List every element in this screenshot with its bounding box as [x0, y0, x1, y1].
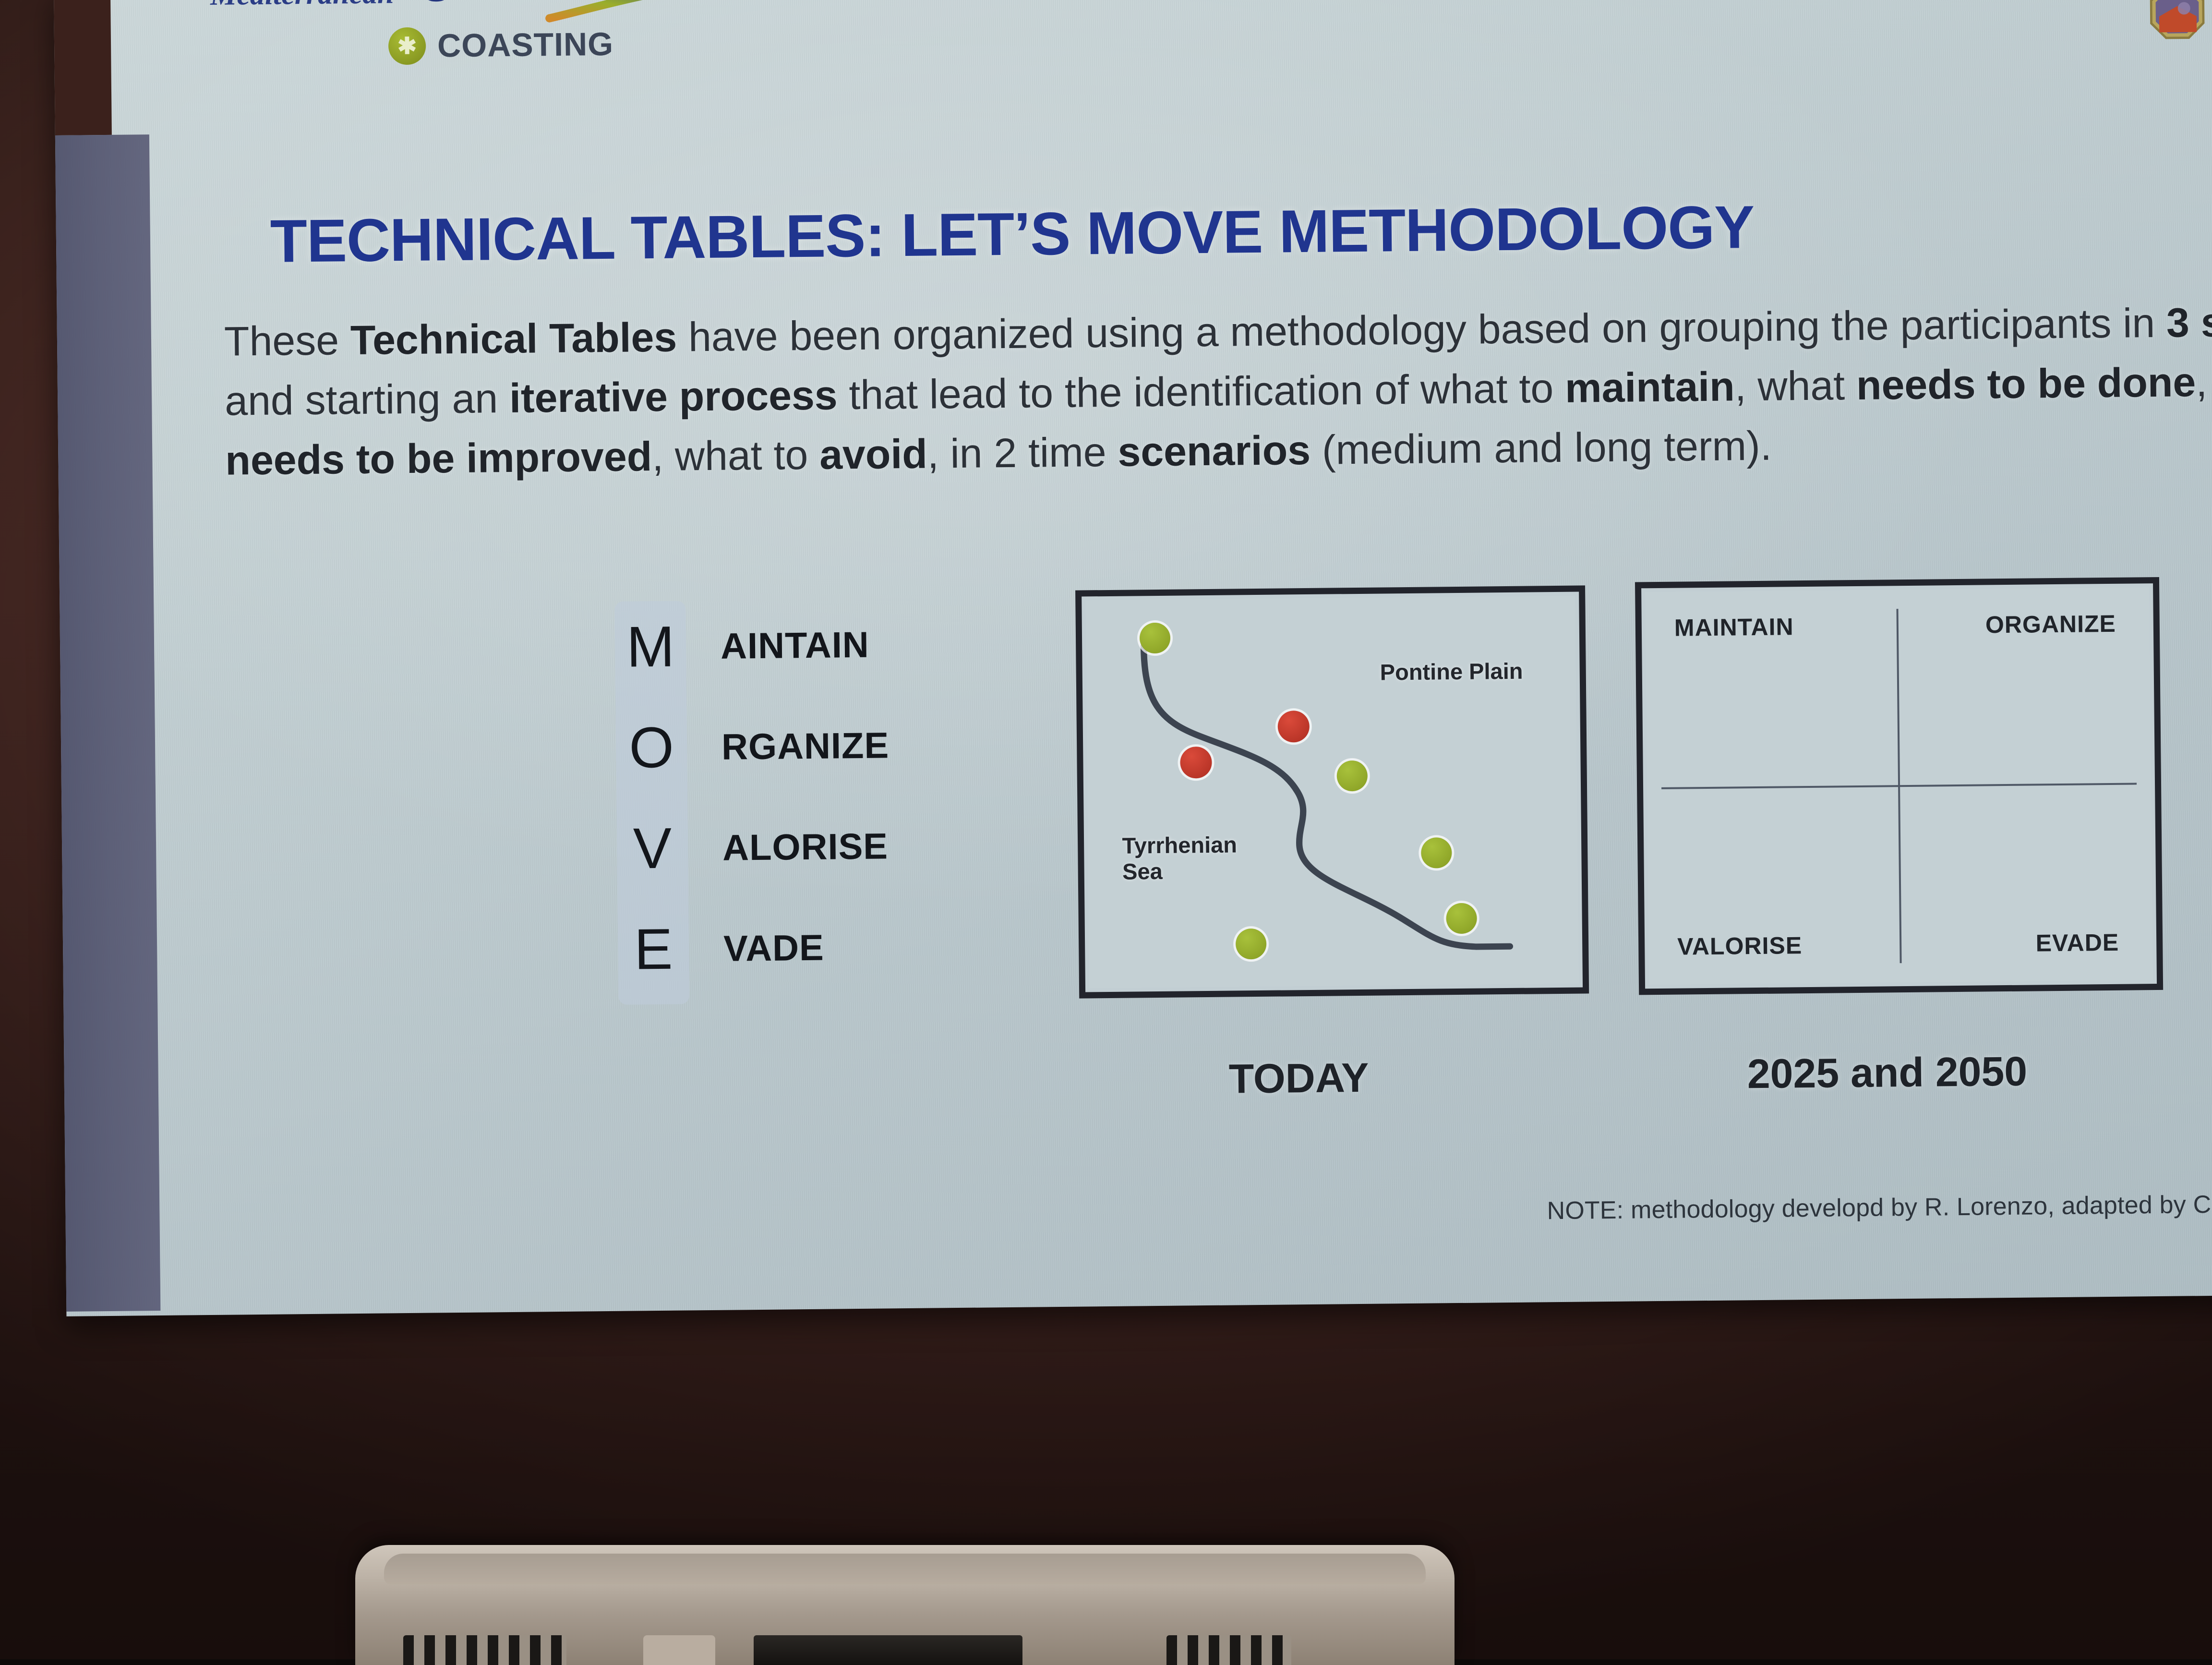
body-text: that lead to the identification of what …: [837, 365, 1565, 419]
coastline-path: [1085, 596, 1579, 989]
move-word-maintain: AINTAIN: [721, 624, 869, 667]
interreg-logo: Interreg Mediterranean ✱ COASTING: [181, 0, 634, 97]
projector-unit: [355, 1545, 1455, 1665]
body-emphasis: needs to be done: [1856, 359, 2196, 409]
move-row-valorise: V ALORISE: [520, 796, 920, 900]
projector-vent-center: [754, 1635, 1022, 1665]
scenario-quadrant-panel: MAINTAIN ORGANIZE VALORISE EVADE: [1635, 577, 2163, 995]
slide-content: Interreg Mediterranean ✱ COASTING Region…: [148, 0, 2212, 1315]
projected-slide: Interreg Mediterranean ✱ COASTING Region…: [54, 0, 2212, 1316]
caption-today: TODAY: [1228, 1054, 1369, 1103]
quadrant-label-maintain: MAINTAIN: [1674, 613, 1794, 641]
move-letter-m: M: [615, 617, 686, 676]
today-map-panel: Pontine Plain Tyrrhenian Sea: [1075, 585, 1589, 998]
body-text: , w: [2196, 359, 2212, 405]
map-label-tyrrhenian-sea: Tyrrhenian Sea: [1122, 832, 1237, 884]
body-text: These: [224, 317, 351, 365]
methodology-note: NOTE: methodology developd by R. Lorenzo…: [1547, 1188, 2212, 1225]
move-row-organize: O RGANIZE: [519, 695, 919, 799]
move-letter-v: V: [617, 819, 688, 877]
body-emphasis: avoid: [819, 431, 928, 478]
map-dot-red: [1180, 747, 1212, 779]
body-emphasis: Technical Tables: [350, 314, 677, 364]
screen-top-notch: [54, 0, 112, 135]
body-emphasis: needs to be improved: [225, 434, 652, 484]
swoosh-icon: [546, 0, 691, 20]
projector-vent-right: [1166, 1635, 1291, 1665]
map-dot-green: [1236, 929, 1267, 960]
body-emphasis: scenarios: [1118, 427, 1310, 475]
body-emphasis: iterative process: [509, 372, 838, 422]
body-text: , what: [1734, 362, 1856, 410]
body-emphasis: maintain: [1565, 363, 1735, 411]
body-emphasis: 3 sub-: [2166, 299, 2212, 346]
body-text: (medium and long term).: [1310, 422, 1772, 473]
map-dot-green: [1421, 837, 1452, 869]
quadrant-label-organize: ORGANIZE: [1985, 610, 2116, 639]
move-letter-e: E: [618, 920, 689, 978]
map-label-pontine-plain: Pontine Plain: [1380, 658, 1523, 686]
move-word-organize: RGANIZE: [721, 724, 890, 768]
move-word-evade: VADE: [723, 927, 824, 969]
map-canvas: Pontine Plain Tyrrhenian Sea: [1085, 596, 1579, 989]
programme-name: Mediterranean: [210, 0, 394, 12]
move-word-valorise: ALORISE: [722, 825, 889, 869]
move-row-evade: E VADE: [521, 896, 921, 1001]
quadrant-label-evade: EVADE: [2035, 929, 2119, 957]
coasting-logo: ✱ COASTING: [388, 25, 614, 65]
body-text: , what to: [652, 432, 820, 479]
body-paragraph: These Technical Tables have been organiz…: [224, 292, 2212, 491]
page-title: TECHNICAL TABLES: LET’S MOVE METHODOLOGY: [270, 192, 1755, 276]
map-dot-green: [1446, 903, 1477, 934]
projector-vent-left: [403, 1635, 566, 1665]
project-name: COASTING: [437, 25, 614, 65]
move-acronym: M AINTAIN O RGANIZE V ALORISE E VADE: [518, 594, 921, 1025]
move-row-maintain: M AINTAIN: [518, 594, 918, 699]
body-text: and starting an: [225, 375, 510, 424]
move-letter-o: O: [616, 718, 687, 776]
projector-top-shell: [384, 1554, 1426, 1584]
projector-button[interactable]: [643, 1635, 715, 1665]
body-text: , in 2 time: [927, 429, 1118, 477]
quadrant-label-valorise: VALORISE: [1677, 931, 1802, 960]
slide-left-band: [55, 134, 161, 1312]
body-text: have been organized using a methodology …: [677, 300, 2167, 361]
quadrant-canvas: MAINTAIN ORGANIZE VALORISE EVADE: [1645, 587, 2153, 985]
coasting-leaf-icon: ✱: [388, 27, 426, 65]
caption-future-scenarios: 2025 and 2050: [1747, 1048, 2027, 1098]
municipality-crest-icon: [2149, 0, 2206, 40]
